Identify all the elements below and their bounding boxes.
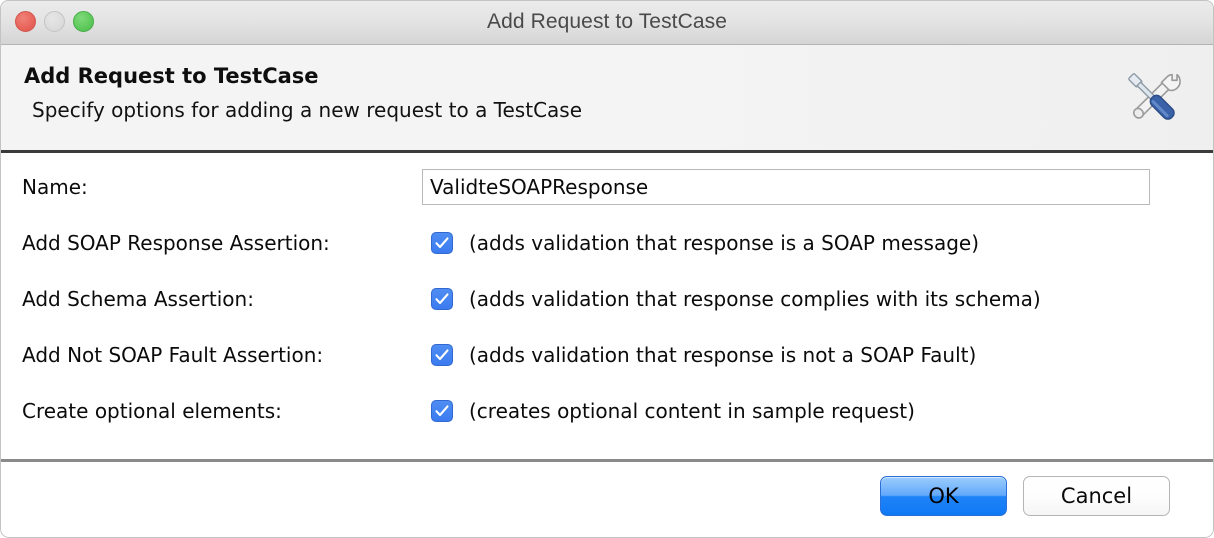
- name-label: Name:: [22, 175, 88, 199]
- not-soap-fault-assertion-label: Add Not SOAP Fault Assertion:: [22, 343, 323, 367]
- schema-assertion-hint: (adds validation that response complies …: [469, 287, 1041, 311]
- window-title: Add Request to TestCase: [0, 0, 1214, 44]
- header-subtitle: Specify options for adding a new request…: [32, 98, 582, 122]
- header-title: Add Request to TestCase: [24, 64, 319, 88]
- dialog-window: Add Request to TestCase Add Request to T…: [0, 0, 1214, 538]
- soap-response-assertion-checkbox[interactable]: [431, 232, 453, 254]
- dialog-header: Add Request to TestCase Specify options …: [0, 45, 1214, 153]
- checkmark-icon: [434, 403, 450, 419]
- title-bar: Add Request to TestCase: [0, 0, 1214, 45]
- tools-wrench-screwdriver-icon: [1114, 59, 1192, 137]
- not-soap-fault-assertion-hint: (adds validation that response is not a …: [469, 343, 976, 367]
- soap-response-assertion-label: Add SOAP Response Assertion:: [22, 231, 330, 255]
- dialog-footer: OK Cancel: [0, 459, 1214, 535]
- schema-assertion-row: Add Schema Assertion: (adds validation t…: [0, 282, 1214, 316]
- not-soap-fault-assertion-checkbox[interactable]: [431, 344, 453, 366]
- schema-assertion-label: Add Schema Assertion:: [22, 287, 254, 311]
- cancel-button[interactable]: Cancel: [1023, 476, 1170, 516]
- checkmark-icon: [434, 235, 450, 251]
- create-optional-elements-hint: (creates optional content in sample requ…: [469, 399, 915, 423]
- name-row: Name:: [0, 170, 1214, 204]
- checkmark-icon: [434, 347, 450, 363]
- create-optional-elements-checkbox[interactable]: [431, 400, 453, 422]
- soap-response-assertion-hint: (adds validation that response is a SOAP…: [469, 231, 979, 255]
- soap-response-assertion-row: Add SOAP Response Assertion: (adds valid…: [0, 226, 1214, 260]
- dialog-body: Name: Add SOAP Response Assertion: (adds…: [0, 153, 1214, 459]
- create-optional-elements-row: Create optional elements: (creates optio…: [0, 394, 1214, 428]
- not-soap-fault-assertion-row: Add Not SOAP Fault Assertion: (adds vali…: [0, 338, 1214, 372]
- name-input[interactable]: [422, 169, 1150, 205]
- ok-button[interactable]: OK: [880, 476, 1007, 516]
- checkmark-icon: [434, 291, 450, 307]
- schema-assertion-checkbox[interactable]: [431, 288, 453, 310]
- create-optional-elements-label: Create optional elements:: [22, 399, 282, 423]
